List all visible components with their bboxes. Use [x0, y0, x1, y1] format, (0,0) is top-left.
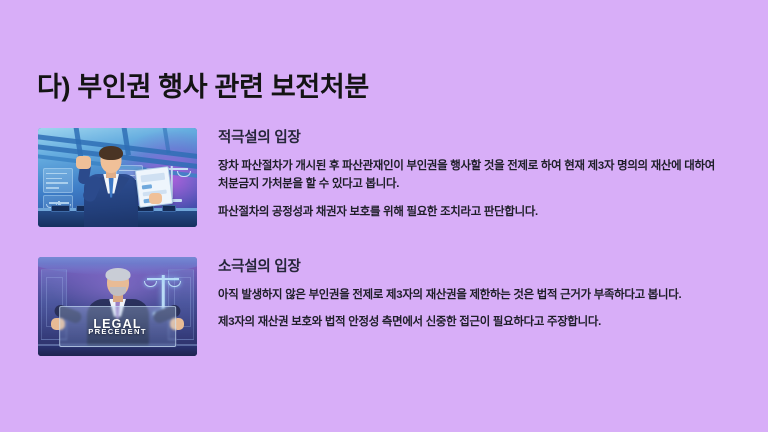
- panel-text-line: [46, 173, 67, 175]
- block-text: 소극설의 입장 아직 발생하지 않은 부인권을 전제로 제3자의 재산권을 제한…: [218, 257, 738, 332]
- panel-text-line: [46, 182, 68, 184]
- block-paragraph: 제3자의 재산권 보호와 법적 안정성 측면에서 신중한 접근이 필요하다고 주…: [218, 313, 718, 331]
- wall-display-panel: [43, 168, 73, 194]
- block-heading: 소극설의 입장: [218, 258, 738, 277]
- bench-monitor: [51, 205, 70, 212]
- glass-podium: LEGAL PRECEDENT: [59, 306, 177, 348]
- legal-precedent-podium-speaker-illustration: LEGAL PRECEDENT: [38, 257, 197, 356]
- block-heading: 적극설의 입장: [218, 129, 738, 148]
- illustration-canvas: [38, 128, 197, 227]
- content-block-negative: LEGAL PRECEDENT 소극설의 입장 아직 발생하지 않은 부인권을 …: [38, 257, 738, 356]
- page-title: 다) 부인권 행사 관련 보전처분: [37, 65, 369, 104]
- bench-monitor: [162, 205, 176, 212]
- lawyer-hair: [99, 146, 123, 160]
- speaker-beard: [110, 287, 126, 296]
- panel-text-line: [46, 187, 59, 189]
- confident-lawyer-raised-fist-illustration: [38, 128, 197, 227]
- illustration-canvas: LEGAL PRECEDENT: [38, 257, 197, 356]
- podium-sublabel: PRECEDENT: [60, 328, 176, 336]
- speaker-hair: [105, 268, 130, 281]
- lawyer-raised-fist: [76, 156, 91, 169]
- content-block-positive: 적극설의 입장 장차 파산절차가 개시된 후 파산관재인이 부인권을 행사할 것…: [38, 128, 738, 227]
- stage-floor: [38, 346, 197, 356]
- block-paragraph: 파산절차의 공정성과 채권자 보호를 위해 필요한 조치라고 판단합니다.: [218, 203, 718, 221]
- block-paragraph: 아직 발생하지 않은 부인권을 전제로 제3자의 재산권을 제한하는 것은 법적…: [218, 286, 718, 304]
- lawyer-hand: [149, 193, 162, 204]
- block-text: 적극설의 입장 장차 파산절차가 개시된 후 파산관재인이 부인권을 행사할 것…: [218, 128, 738, 221]
- block-paragraph: 장차 파산절차가 개시된 후 파산관재인이 부인권을 행사할 것을 전제로 하여…: [218, 157, 718, 194]
- panel-text-line: [46, 178, 62, 180]
